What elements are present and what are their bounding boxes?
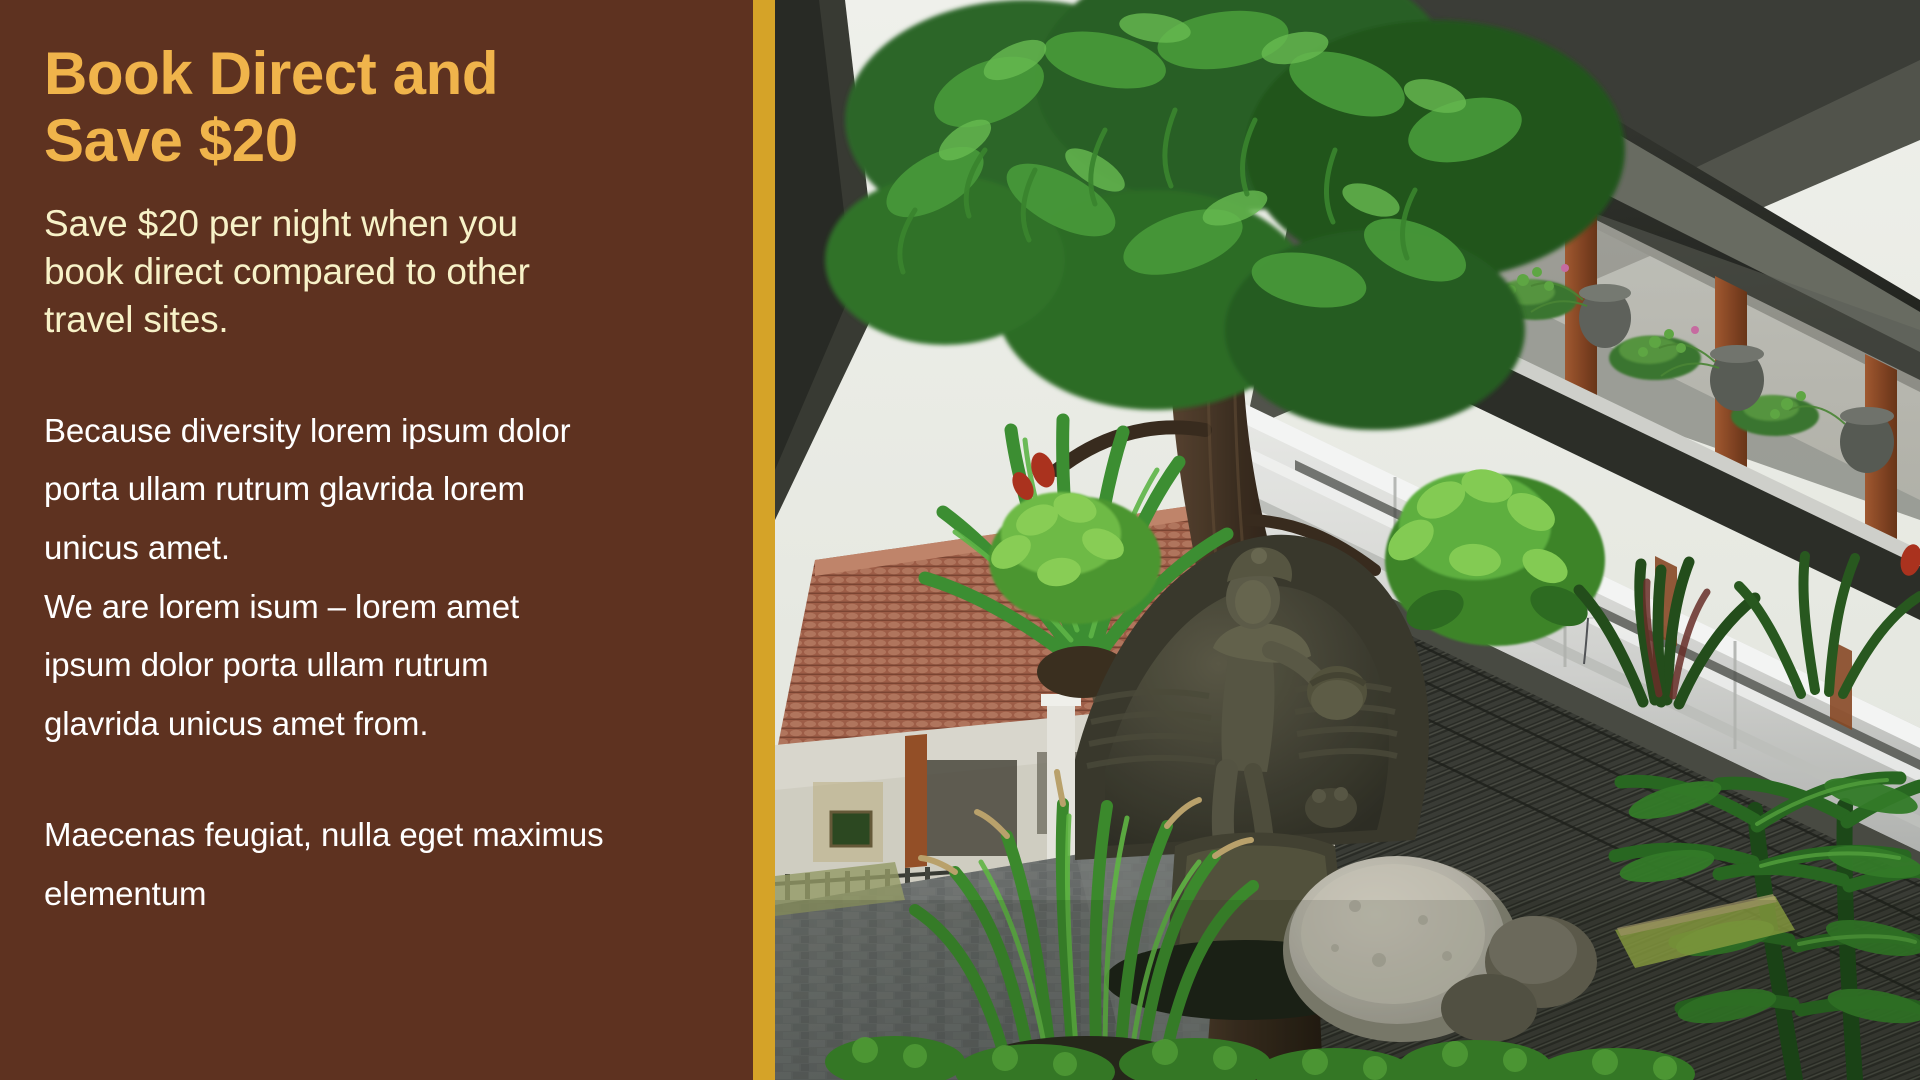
- gold-divider: [753, 0, 775, 1080]
- body-paragraph-1: Because diversity lorem ipsum dolor port…: [44, 402, 724, 754]
- lead-paragraph: Save $20 per night when you book direct …: [44, 200, 654, 343]
- body-paragraph-2: Maecenas feugiat, nulla eget maximus ele…: [44, 806, 724, 923]
- courtyard-photo: [775, 0, 1920, 1080]
- text-panel: Book Direct and Save $20 Save $20 per ni…: [0, 0, 753, 1080]
- promo-slide: Book Direct and Save $20 Save $20 per ni…: [0, 0, 1920, 1080]
- paragraph-spacer: [44, 754, 753, 806]
- page-title: Book Direct and Save $20: [44, 40, 644, 174]
- photo-artwork: [775, 0, 1920, 1080]
